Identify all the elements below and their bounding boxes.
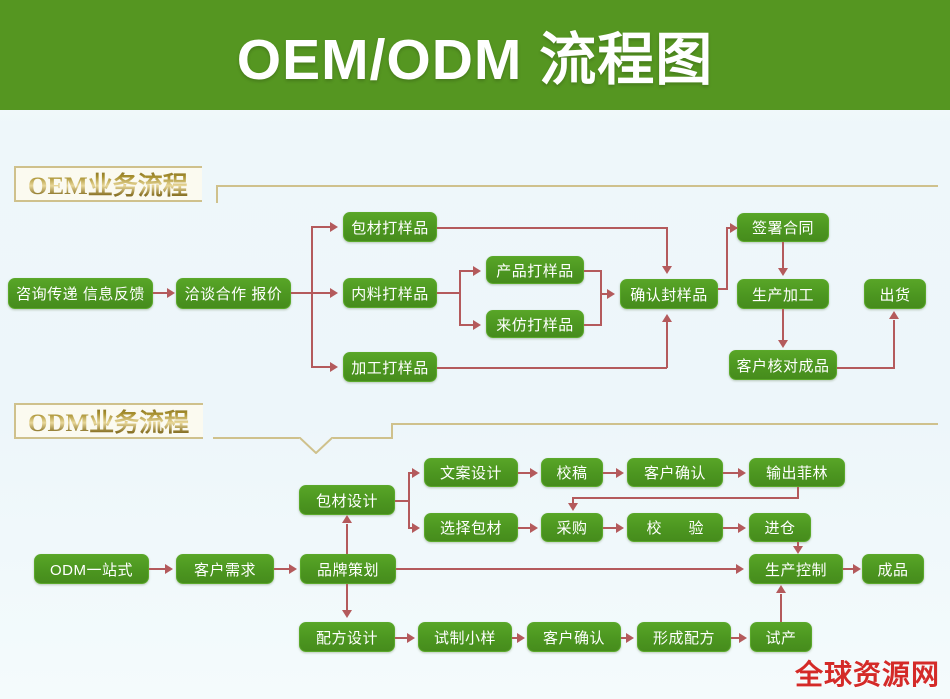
edge-odm10-odm11 [603,527,617,529]
arrow-oem3-oem8 [662,266,672,274]
edge-oem10-oem11 [782,309,784,342]
arrow-bus-oem6 [473,266,481,276]
arrow-odm1-odm2 [165,564,173,574]
edge-oem5-oem8-h [437,367,667,369]
node-odm-customer-confirm-2[interactable]: 客户确认 [527,622,621,652]
arrow-oem11-oem12 [889,311,899,319]
node-oem-confirm-seal-sample[interactable]: 确认封样品 [620,279,718,309]
arrow-odm6-odm7 [616,468,624,478]
node-odm-package-design[interactable]: 包材设计 [299,485,395,515]
bus-odm-design-split [408,472,410,528]
node-oem-shipment[interactable]: 出货 [864,279,926,309]
section-rule-odm-top [393,423,938,425]
node-odm-production-control[interactable]: 生产控制 [749,554,843,584]
edge-oem3-oem8-v [666,227,668,267]
node-odm-customer-confirm-1[interactable]: 客户确认 [627,458,723,487]
arrow-odm2-odm3 [289,564,297,574]
node-odm-output-film[interactable]: 输出菲林 [749,458,845,487]
arrow-bus-oem5 [330,362,338,372]
arrow-bus-oem4 [330,288,338,298]
arrow-odm12-odm13 [793,546,803,554]
arrow-odm10-odm11 [616,523,624,533]
edge-odm19-odm13 [780,594,782,622]
node-odm-trial-sample[interactable]: 试制小样 [418,622,512,652]
arrow-odm18-odm19 [739,633,747,643]
node-odm-copywriting[interactable]: 文案设计 [424,458,518,487]
section-rule-odm-right [333,437,393,439]
arrow-merge-oem8 [607,289,615,299]
edge-oem8-oem9-stub [718,288,728,290]
bus-oem-vertical [311,226,313,366]
node-odm-select-package[interactable]: 选择包材 [424,513,518,542]
arrow-oem9-oem10 [778,268,788,276]
bus-oem-merge-vertical [600,270,602,326]
edge-odm3-odm13 [396,568,736,570]
edge-odm6-odm7 [603,472,617,474]
section-label-oem: OEM业务流程 [14,166,202,202]
arrow-odm9-odm10 [530,523,538,533]
arrow-odm15-odm16 [407,633,415,643]
node-oem-customer-check[interactable]: 客户核对成品 [729,350,837,380]
arrow-oem10-oem11 [778,340,788,348]
node-odm-proofreading[interactable]: 校稿 [541,458,603,487]
arrow-odm11-odm12 [738,523,746,533]
section-label-odm: ODM业务流程 [14,403,203,439]
node-odm-brand-planning[interactable]: 品牌策划 [300,554,396,584]
arrow-odm13-odm14 [853,564,861,574]
arrow-odm3-odm15 [342,610,352,618]
edge-odm3-odm15 [346,584,348,612]
arrow-bus-odm9 [412,523,420,533]
node-odm-customer-demand[interactable]: 客户需求 [176,554,274,584]
bus-oem-sample-split [459,270,461,324]
edge-oem8-oem9-v [726,227,728,289]
node-oem-imitation-sample[interactable]: 来仿打样品 [486,310,584,338]
node-odm-trial-production[interactable]: 试产 [750,622,812,652]
section-label-odm-notch [299,437,333,454]
page-header-banner: OEM/ODM 流程图 [0,0,950,110]
arrow-oem1-oem2 [167,288,175,298]
edge-oem7-merge [584,324,601,326]
page-title: OEM/ODM 流程图 [237,14,714,96]
node-odm-finished-product[interactable]: 成品 [862,554,924,584]
arrow-odm16-odm17 [517,633,525,643]
node-oem-negotiation[interactable]: 洽谈合作 报价 [176,278,291,309]
arrow-bus-oem7 [473,320,481,330]
edge-oem2-bus [291,292,313,294]
edge-oem6-merge [584,270,601,272]
node-odm-formula-design[interactable]: 配方设计 [299,622,395,652]
node-oem-material-sample[interactable]: 内料打样品 [343,278,437,308]
node-odm-purchase[interactable]: 采购 [541,513,603,542]
edge-oem9-oem10 [782,242,784,270]
flowchart-page: OEM/ODM 流程图 OEM业务流程 咨询传递 信息反馈 洽谈合作 报价 包材… [0,0,950,699]
arrow-bus-odm5 [412,468,420,478]
section-label-odm-text: ODM业务流程 [28,403,189,439]
section-rule-oem [218,185,938,187]
node-odm-inspection[interactable]: 校 验 [627,513,723,542]
section-label-oem-text: OEM业务流程 [28,166,188,202]
arrow-odm17-odm18 [626,633,634,643]
arrow-bus-oem3 [330,222,338,232]
arrow-odm19-odm13 [776,585,786,593]
node-oem-production[interactable]: 生产加工 [737,279,829,309]
node-oem-process-sample[interactable]: 加工打样品 [343,352,437,382]
edge-odm3-odm4 [346,524,348,554]
node-oem-inquiry[interactable]: 咨询传递 信息反馈 [8,278,153,309]
arrow-odm8-odm10 [568,503,578,511]
edge-oem5-oem8-v [666,322,668,368]
arrow-odm3-odm13 [736,564,744,574]
node-odm-one-stop[interactable]: ODM一站式 [34,554,149,584]
section-rule-odm-left [213,437,299,439]
edge-oem11-oem12-h [837,367,895,369]
arrow-oem5-oem8 [662,314,672,322]
arrow-odm3-odm4 [342,515,352,523]
watermark-text: 全球资源网 [795,653,940,693]
node-oem-package-sample[interactable]: 包材打样品 [343,212,437,242]
edge-odm8-odm10-h [572,497,799,499]
node-odm-warehousing[interactable]: 进仓 [749,513,811,542]
node-odm-form-formula[interactable]: 形成配方 [637,622,731,652]
edge-oem4-bus [437,292,460,294]
arrow-odm5-odm6 [530,468,538,478]
edge-oem11-oem12-v [893,320,895,368]
node-oem-product-sample[interactable]: 产品打样品 [486,256,584,284]
node-oem-sign-contract[interactable]: 签署合同 [737,213,829,242]
arrow-odm7-odm8 [738,468,746,478]
section-rule-odm-stub [391,423,393,439]
section-rule-oem-stub [216,185,218,203]
edge-oem3-oem8-h [437,227,667,229]
arrow-oem8-oem9 [730,223,738,233]
